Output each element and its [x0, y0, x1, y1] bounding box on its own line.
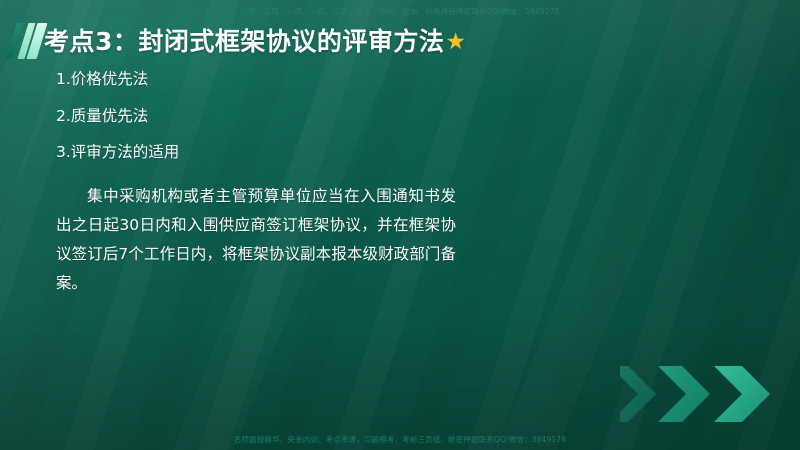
list-item: 2.质量优先法 — [56, 109, 476, 125]
title-row: 考点3：封闭式框架协议的评审方法 ★ — [0, 21, 466, 61]
body-content: 1.价格优先法 2.质量优先法 3.评审方法的适用 集中采购机构或者主管预算单位… — [56, 72, 476, 298]
footer-banner: 名师面授精华、央金内训、考点串讲，习题模考、考前三页纸、绝密押题联系QQ/微信：… — [0, 428, 800, 450]
footer-text: 名师面授精华、央金内训、考点串讲，习题模考、考前三页纸、绝密押题联系QQ/微信：… — [234, 434, 566, 445]
chevron-decoration — [620, 366, 800, 422]
chevron-arrows-icon — [620, 366, 800, 422]
slash-decoration-icon — [2, 21, 44, 61]
list-item: 3.评审方法的适用 — [56, 145, 476, 161]
list-item: 1.价格优先法 — [56, 72, 476, 88]
chevron-1 — [620, 366, 656, 422]
star-icon: ★ — [445, 30, 466, 53]
page-title: 考点3：封闭式框架协议的评审方法 — [44, 29, 444, 54]
slide-canvas: 二建、监理、一建、一造、二造、安全、消防、咨询、检测课程押题联系QQ/微信：38… — [0, 0, 800, 450]
chevron-3 — [708, 366, 770, 422]
body-paragraph: 集中采购机构或者主管预算单位应当在入围通知书发出之日起30日内和入围供应商签订框… — [56, 182, 456, 298]
top-banner: 二建、监理、一建、一造、二造、安全、消防、咨询、检测课程押题联系QQ/微信：38… — [0, 0, 800, 22]
chevron-2 — [652, 366, 710, 422]
top-banner-text: 二建、监理、一建、一造、二造、安全、消防、咨询、检测课程押题联系QQ/微信：38… — [240, 6, 559, 17]
